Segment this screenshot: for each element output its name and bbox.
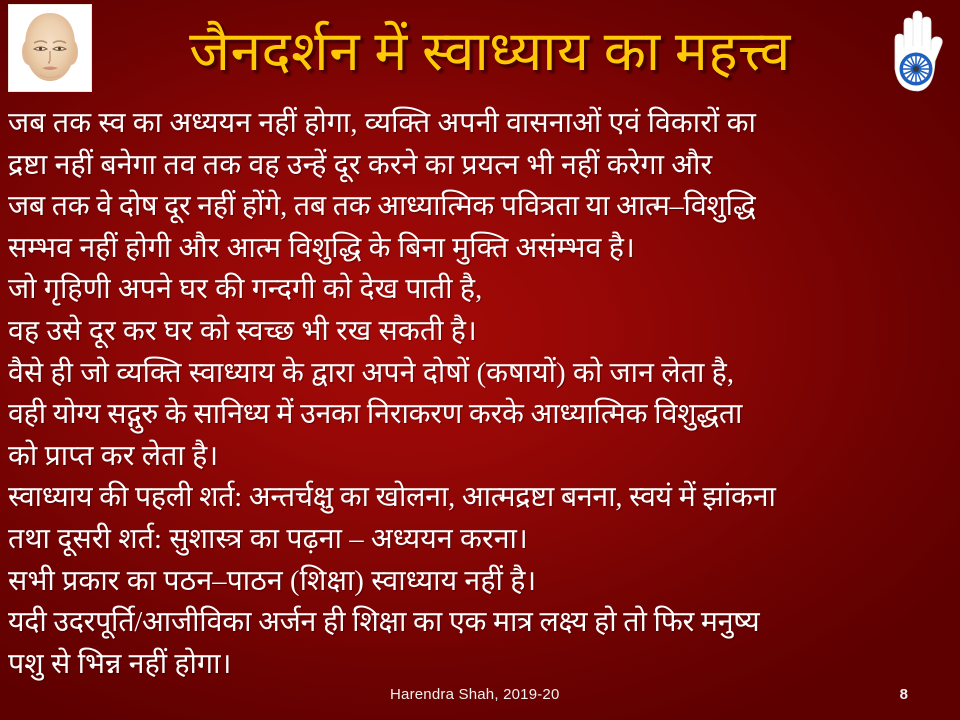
slide-header: जैनदर्शन में स्वाध्याय का महत्त्व — [0, 0, 960, 102]
body-line: जब तक वे दोष दूर नहीं होंगे, तब तक आध्या… — [8, 186, 954, 228]
body-line: यदी उदरपूर्ति/आजीविका अर्जन ही शिक्षा का… — [8, 602, 954, 644]
body-line: सभी प्रकार का पठन–पाठन (शिक्षा) स्वाध्या… — [8, 561, 954, 603]
tirthankara-face-image — [8, 4, 92, 92]
body-line: सम्भव नहीं होगी और आत्म विशुद्धि के बिना… — [8, 228, 954, 270]
slide-footer: Harendra Shah, 2019-20 8 — [0, 686, 960, 712]
body-line: जब तक स्व का अध्ययन नहीं होगा, व्यक्ति अ… — [8, 103, 954, 145]
body-line: वैसे ही जो व्यक्ति स्वाध्याय के द्वारा अ… — [8, 353, 954, 395]
body-line: को प्राप्त कर लेता है। — [8, 436, 954, 478]
body-line: स्वाध्याय की पहली शर्त: अन्तर्चक्षु का ख… — [8, 477, 954, 519]
body-line: तथा दूसरी शर्त: सुशास्त्र का पढ़ना – अध्… — [8, 519, 954, 561]
body-line: पशु से भिन्न नहीं होगा। — [8, 644, 954, 686]
jain-ahimsa-hand-symbol — [882, 3, 954, 97]
slide-body-text: जब तक स्व का अध्ययन नहीं होगा, व्यक्ति अ… — [8, 103, 954, 685]
footer-credit: Harendra Shah, 2019-20 — [390, 686, 560, 703]
body-line: द्रष्टा नहीं बनेगा तव तक वह उन्हें दूर क… — [8, 145, 954, 187]
slide-title: जैनदर्शन में स्वाध्याय का महत्त्व — [110, 6, 870, 98]
presentation-slide: जैनदर्शन में स्वाध्याय का महत्त्व — [0, 0, 960, 720]
body-line: जो गृहिणी अपने घर की गन्दगी को देख पाती … — [8, 269, 954, 311]
body-line: वह उसे दूर कर घर को स्वच्छ भी रख सकती है… — [8, 311, 954, 353]
body-line: वही योग्य सद्गुरु के सानिध्य में उनका नि… — [8, 394, 954, 436]
footer-page-number: 8 — [900, 686, 908, 703]
